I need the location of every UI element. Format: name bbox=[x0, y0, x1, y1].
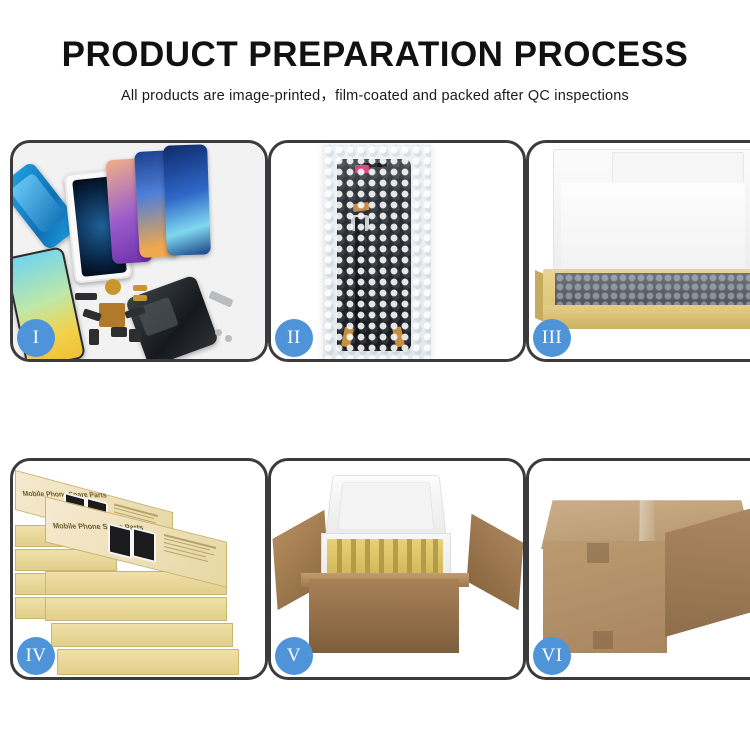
page-title: PRODUCT PREPARATION PROCESS bbox=[0, 37, 750, 74]
step-badge-5: V bbox=[275, 637, 313, 675]
process-step-panel-1: I bbox=[10, 140, 268, 362]
page-header: PRODUCT PREPARATION PROCESS All products… bbox=[0, 0, 750, 105]
step-badge-4: IV bbox=[17, 637, 55, 675]
process-step-panel-2: II bbox=[268, 140, 526, 362]
step-badge-1: I bbox=[17, 319, 55, 357]
process-step-panel-4: Mobile Phone Spare Parts Mobile Phone Sp… bbox=[10, 458, 268, 680]
process-step-panel-6: VI bbox=[526, 458, 750, 680]
step-badge-3: III bbox=[533, 319, 571, 357]
step-badge-2: II bbox=[275, 319, 313, 357]
process-step-panel-3: III bbox=[526, 140, 750, 362]
page-subtitle: All products are image-printed，film-coat… bbox=[0, 84, 750, 105]
process-steps-grid: I II bbox=[10, 140, 740, 680]
process-step-panel-5: V bbox=[268, 458, 526, 680]
step-badge-6: VI bbox=[533, 637, 571, 675]
